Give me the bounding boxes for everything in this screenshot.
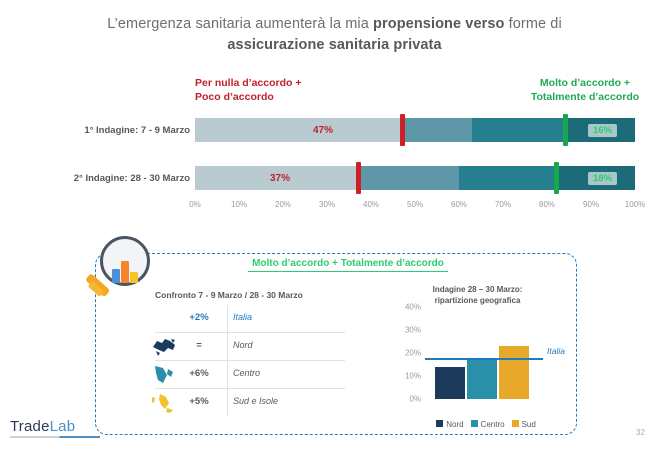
mini-bar-sud — [499, 346, 529, 399]
x-tick-6: 60% — [451, 200, 467, 209]
mini-y-tick-30: 30% — [395, 326, 421, 335]
logo-text-trade: Trade — [10, 418, 50, 435]
comparison-delta-2: +6% — [175, 368, 223, 379]
comparison-table: +2% Italia = Nord +6% Centro — [155, 305, 345, 416]
comparison-title: Confronto 7 - 9 Marzo / 28 - 30 Marzo — [155, 290, 340, 300]
legend-label-nord: Nord — [446, 420, 463, 429]
mini-bar-nord — [435, 367, 465, 399]
x-tick-8: 80% — [539, 200, 555, 209]
bar-chart-glyph-bar2-icon — [121, 261, 129, 283]
x-axis: 0% 10% 20% 30% 40% 50% 60% 70% 80% 90% 1… — [195, 200, 635, 214]
magnifier-lens-icon — [100, 236, 150, 286]
page-title: L’emergenza sanitaria aumenterà la mia p… — [60, 14, 609, 56]
bar-label-left-2: 37% — [270, 173, 290, 184]
x-tick-3: 30% — [319, 200, 335, 209]
bar-segment-1-1 — [195, 118, 402, 142]
table-row: +6% Centro — [155, 361, 345, 389]
divider — [227, 305, 228, 332]
legend-swatch-sud-icon — [512, 420, 519, 427]
table-row — [195, 166, 635, 190]
logo-underline — [10, 436, 100, 438]
x-tick-1: 10% — [231, 200, 247, 209]
x-tick-10: 100% — [625, 200, 645, 209]
divider — [227, 389, 228, 416]
bar-label-right-2: 18% — [588, 172, 617, 185]
callout-agree-line2: Totalmente d’accordo — [505, 90, 665, 104]
callout-disagree: Per nulla d’accordo + Poco d’accordo — [195, 76, 370, 104]
callout-agree: Molto d’accordo + Totalmente d’accordo — [505, 76, 665, 104]
comparison-name-0: Italia — [233, 312, 338, 322]
title-text-bold: propensione verso — [373, 16, 504, 32]
table-row: +2% Italia — [155, 305, 345, 333]
title-text-part1: L’emergenza sanitaria aumenterà la mia — [107, 16, 373, 32]
x-tick-5: 50% — [407, 200, 423, 209]
mini-y-tick-10: 10% — [395, 372, 421, 381]
detail-panel-heading: Molto d’accordo + Totalmente d’accordo — [248, 258, 448, 272]
bar-row-label-1: 1° Indagine: 7 - 9 Marzo — [20, 125, 190, 136]
legend-label-sud: Sud — [522, 420, 536, 429]
bar-row-label-2: 2° Indagine: 28 - 30 Marzo — [20, 173, 190, 184]
marker-green-1 — [563, 114, 568, 146]
mini-bar-centro — [467, 358, 497, 399]
comparison-delta-0: +2% — [175, 312, 223, 323]
comparison-delta-1: = — [175, 340, 223, 351]
divider — [227, 333, 228, 360]
divider — [227, 361, 228, 388]
bar-label-right-1: 16% — [588, 124, 617, 137]
mini-y-tick-20: 20% — [395, 349, 421, 358]
italia-reference-label: Italia — [547, 346, 565, 356]
marker-green-2 — [554, 162, 559, 194]
x-tick-7: 70% — [495, 200, 511, 209]
bar-segment-2-2 — [358, 166, 459, 190]
mini-y-tick-40: 40% — [395, 303, 421, 312]
slide-root: L’emergenza sanitaria aumenterà la mia p… — [0, 0, 669, 455]
italia-reference-line — [425, 358, 543, 360]
mini-chart-title-line1: Indagine 28 – 30 Marzo: — [395, 284, 560, 295]
x-tick-4: 40% — [363, 200, 379, 209]
bar-segment-1-3 — [472, 118, 564, 142]
mini-chart-plot-area — [427, 307, 537, 399]
marker-red-2 — [356, 162, 361, 194]
comparison-name-2: Centro — [233, 368, 338, 378]
bar-chart-glyph-bar1-icon — [112, 269, 120, 283]
mini-y-tick-0: 0% — [395, 395, 421, 404]
callout-disagree-line1: Per nulla d’accordo + — [195, 76, 370, 90]
callout-disagree-line2: Poco d’accordo — [195, 90, 370, 104]
logo-text: TradeLab — [10, 418, 100, 435]
table-row: +5% Sud e Isole — [155, 389, 345, 416]
bar-chart-glyph-bar3-icon — [130, 272, 138, 283]
bar-label-left-1: 47% — [313, 125, 333, 136]
logo-text-lab: Lab — [50, 418, 76, 435]
legend-swatch-nord-icon — [436, 420, 443, 427]
title-text-part2: forme di — [504, 16, 561, 32]
title-text-line2: assicurazione sanitaria privata — [227, 37, 441, 53]
comparison-delta-3: +5% — [175, 396, 223, 407]
bar-segment-2-3 — [459, 166, 556, 190]
table-row: = Nord — [155, 333, 345, 361]
x-tick-2: 20% — [275, 200, 291, 209]
page-number: 32 — [636, 428, 645, 437]
magnifier-icon — [88, 236, 150, 298]
mini-bar-chart: 40% 30% 20% 10% 0% Italia — [395, 307, 570, 407]
mini-chart-legend: NordCentroSud — [395, 420, 570, 429]
legend-swatch-centro-icon — [471, 420, 478, 427]
table-row — [195, 118, 635, 142]
x-tick-0: 0% — [189, 200, 201, 209]
comparison-name-1: Nord — [233, 340, 338, 350]
bar-segment-1-2 — [402, 118, 472, 142]
marker-red-1 — [400, 114, 405, 146]
x-tick-9: 90% — [583, 200, 599, 209]
tradelab-logo: TradeLab — [10, 418, 100, 438]
legend-label-centro: Centro — [481, 420, 505, 429]
comparison-name-3: Sud e Isole — [233, 396, 338, 406]
callout-agree-line1: Molto d’accordo + — [505, 76, 665, 90]
